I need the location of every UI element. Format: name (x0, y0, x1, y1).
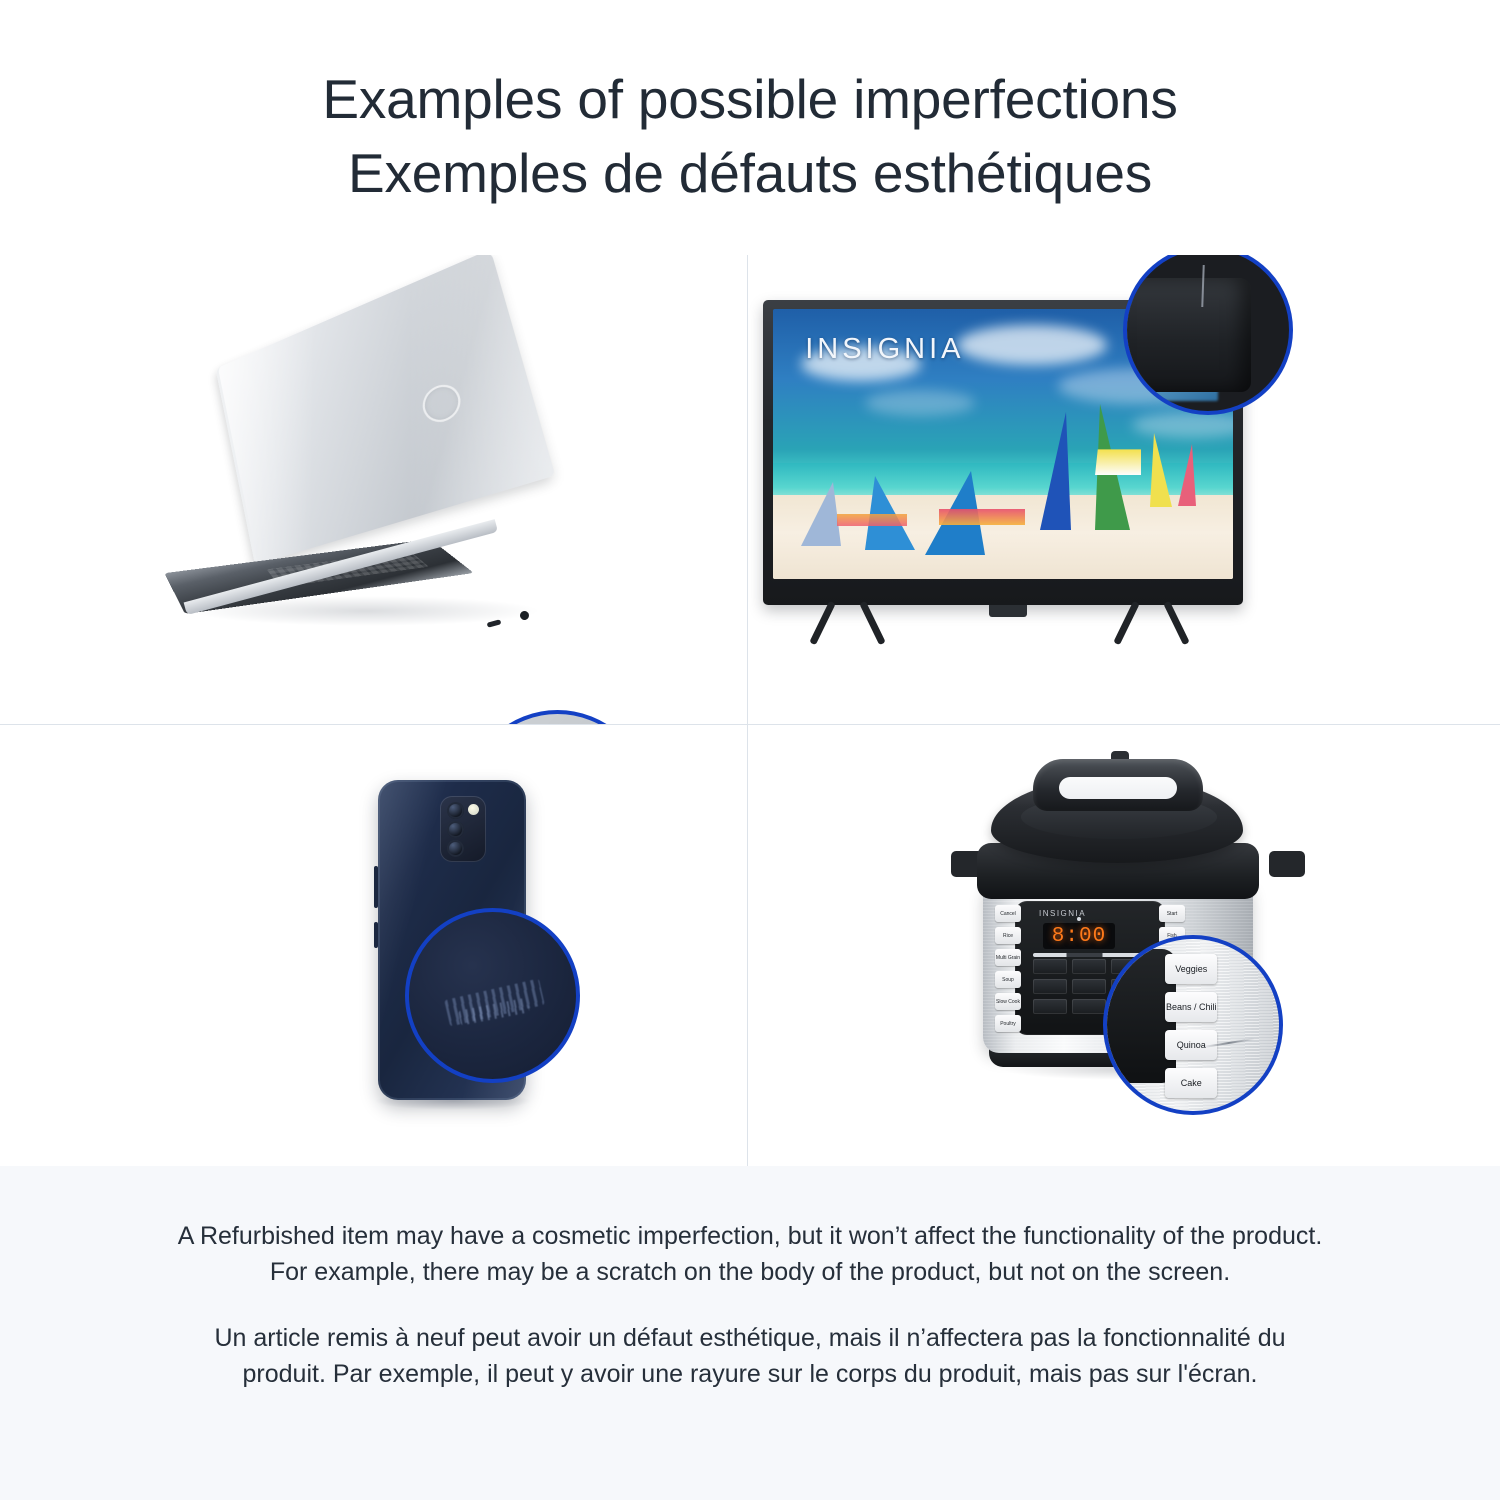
sail-yellow (1150, 433, 1172, 507)
television-tile: INSIGNIA (748, 255, 1500, 725)
power-button (374, 922, 378, 948)
sail-stripe-orange (837, 514, 907, 526)
cloud-shape (865, 390, 975, 416)
cooker-preset-key[interactable]: Cancel (995, 905, 1021, 922)
cooker-preset-key[interactable]: Poultry (995, 1015, 1021, 1032)
pressure-cooker-handle (1033, 759, 1203, 811)
cooker-button[interactable] (1033, 979, 1067, 994)
cooker-preset-key[interactable]: Start (1159, 905, 1185, 922)
smartphone-illustration (0, 725, 747, 1166)
sail-stripe-red (939, 509, 1025, 525)
cloud-shape (1132, 412, 1233, 438)
camera-lens-icon (447, 802, 464, 819)
magnified-key-column: Veggies Beans / Chili Quinoa Cake (1165, 954, 1217, 1106)
status-indicator-light (1077, 917, 1081, 921)
page-title-en: Examples of possible imperfections (322, 62, 1177, 136)
camera-module-icon (440, 796, 486, 862)
laptop-graphic (185, 350, 565, 640)
laptop-tile (0, 255, 748, 725)
cooker-preset-key[interactable]: Soup (995, 971, 1021, 988)
header: Examples of possible imperfections Exemp… (0, 0, 1500, 255)
description-fr: Un article remis à neuf peut avoir un dé… (170, 1320, 1330, 1392)
smartphone-tile (0, 725, 748, 1166)
magnified-preset-key: Beans / Chili (1165, 992, 1217, 1022)
handle-grip (1059, 777, 1177, 799)
cooker-preset-key[interactable]: Slow Cook (995, 993, 1021, 1010)
cooker-button[interactable] (1033, 959, 1067, 974)
cooker-left-key-column: Cancel Rice Multi Grain Soup Slow Cook P… (995, 905, 1021, 1037)
camera-lens-icon (447, 840, 464, 857)
laptop-illustration (0, 255, 747, 724)
laptop-lid-edge (216, 255, 559, 565)
cooker-button[interactable] (1033, 999, 1067, 1014)
pressure-cooker-magnifier-loupe: Veggies Beans / Chili Quinoa Cake (1103, 935, 1283, 1115)
sail-blue (1040, 412, 1071, 530)
television-center-mount (989, 605, 1027, 617)
camera-flash-icon (468, 804, 479, 815)
camera-lens-icon (447, 821, 464, 838)
cooker-button[interactable] (1072, 999, 1106, 1014)
cooker-timer-display: 8:00 (1043, 923, 1115, 949)
cloud-shape (957, 325, 1107, 365)
television-leg-right (1115, 600, 1195, 646)
smartphone-magnifier-loupe (405, 908, 580, 1083)
page-title-fr: Exemples de défauts esthétiques (348, 136, 1152, 210)
magnified-preset-key: Veggies (1165, 954, 1217, 984)
description-en: A Refurbished item may have a cosmetic i… (170, 1218, 1330, 1290)
sail-lightblue (801, 482, 841, 546)
television-leg-left (811, 600, 891, 646)
side-handle-right (1269, 851, 1305, 877)
sail-pink (1178, 444, 1196, 506)
magnified-preset-key: Cake (1165, 1068, 1217, 1098)
footer-description: A Refurbished item may have a cosmetic i… (0, 1166, 1500, 1500)
cooker-preset-key[interactable]: Multi Grain (995, 949, 1021, 966)
magnified-bezel-corner (1125, 278, 1251, 391)
television-brand-logo: INSIGNIA (805, 333, 964, 366)
cooker-button[interactable] (1072, 979, 1106, 994)
volume-button (374, 866, 378, 908)
sail-stripe-yellow (1095, 449, 1141, 475)
cooker-button[interactable] (1072, 959, 1106, 974)
refurbished-imperfections-infographic: Examples of possible imperfections Exemp… (0, 0, 1500, 1500)
cooker-preset-key[interactable]: Rice (995, 927, 1021, 944)
